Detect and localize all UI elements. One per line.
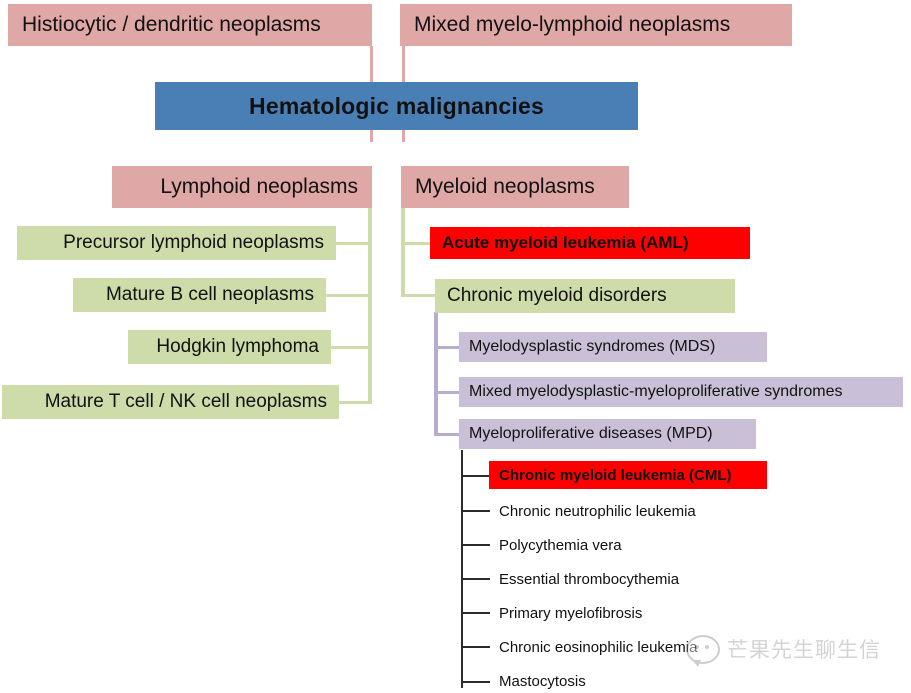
node-polycythemia-vera[interactable]: Polycythemia vera xyxy=(489,531,779,559)
node-mastocytosis[interactable]: Mastocytosis xyxy=(489,667,779,693)
node-label: Chronic myeloid leukemia (CML) xyxy=(499,467,732,484)
node-label: Chronic neutrophilic leukemia xyxy=(499,503,696,520)
node-label: Primary myelofibrosis xyxy=(499,605,642,622)
wechat-bubble-icon xyxy=(686,635,720,664)
connector-lymphoid-stub-1 xyxy=(335,242,371,245)
connector-mpd-stub-4 xyxy=(462,578,490,580)
node-label: Chronic eosinophilic leukemia xyxy=(499,639,697,656)
node-mature-b-cell-neoplasms[interactable]: Mature B cell neoplasms xyxy=(73,278,326,312)
connector-lymphoid-stub-4 xyxy=(338,401,371,404)
node-label: Histiocytic / dendritic neoplasms xyxy=(22,13,321,37)
node-myeloproliferative-diseases[interactable]: Myeloproliferative diseases (MPD) xyxy=(459,419,756,449)
node-histiocytic-dendritic-neoplasms[interactable]: Histiocytic / dendritic neoplasms xyxy=(8,4,372,46)
node-label: Lymphoid neoplasms xyxy=(160,175,358,199)
connector-cmd-stub-2 xyxy=(436,391,460,394)
node-acute-myeloid-leukemia[interactable]: Acute myeloid leukemia (AML) xyxy=(430,227,750,259)
node-chronic-myeloid-leukemia[interactable]: Chronic myeloid leukemia (CML) xyxy=(489,461,767,489)
node-label: Chronic myeloid disorders xyxy=(447,285,667,307)
node-chronic-myeloid-disorders[interactable]: Chronic myeloid disorders xyxy=(435,279,735,313)
watermark-text: 芒果先生聊生信 xyxy=(727,634,881,664)
node-mixed-myelo-lymphoid-neoplasms[interactable]: Mixed myelo-lymphoid neoplasms xyxy=(400,4,792,46)
node-myelodysplastic-syndromes[interactable]: Myelodysplastic syndromes (MDS) xyxy=(459,332,767,362)
connector-mpd-stub-1 xyxy=(462,475,490,477)
node-label: Myeloid neoplasms xyxy=(415,175,595,199)
node-label: Precursor lymphoid neoplasms xyxy=(63,232,324,254)
connector-myeloid-stub-aml xyxy=(403,242,431,245)
connector-cmd-stub-1 xyxy=(436,346,460,349)
node-label: Myelodysplastic syndromes (MDS) xyxy=(469,338,715,356)
node-label: Mastocytosis xyxy=(499,673,586,690)
node-label: Myeloproliferative diseases (MPD) xyxy=(469,425,713,443)
node-label: Mixed myelodysplastic-myeloproliferative… xyxy=(469,383,842,401)
node-label: Mature B cell neoplasms xyxy=(106,284,314,306)
connector-mpd-stub-2 xyxy=(462,510,490,512)
connector-lymphoid-stub-3 xyxy=(330,346,371,349)
node-chronic-neutrophilic-leukemia[interactable]: Chronic neutrophilic leukemia xyxy=(489,497,779,525)
node-label: Essential thrombocythemia xyxy=(499,571,679,588)
node-label: Hodgkin lymphoma xyxy=(156,336,319,358)
node-hodgkin-lymphoma[interactable]: Hodgkin lymphoma xyxy=(128,330,331,364)
connector-lymphoid-trunk xyxy=(368,208,372,404)
connector-cmd-stub-3 xyxy=(436,433,460,436)
connector-mpd-stub-5 xyxy=(462,612,490,614)
node-primary-myelofibrosis[interactable]: Primary myelofibrosis xyxy=(489,599,779,627)
connector-cmd-trunk xyxy=(434,312,438,436)
connector-lymphoid-stub-2 xyxy=(325,294,371,297)
connector-mpd-stub-3 xyxy=(462,544,490,546)
node-mixed-mds-mpn-syndromes[interactable]: Mixed myelodysplastic-myeloproliferative… xyxy=(459,377,903,407)
node-precursor-lymphoid-neoplasms[interactable]: Precursor lymphoid neoplasms xyxy=(17,226,336,260)
connector-myeloid-stub-cmd xyxy=(403,294,436,297)
node-lymphoid-neoplasms[interactable]: Lymphoid neoplasms xyxy=(112,166,372,208)
node-hematologic-malignancies-root[interactable]: Hematologic malignancies xyxy=(155,82,638,130)
node-label: Acute myeloid leukemia (AML) xyxy=(442,233,689,253)
node-label: Mixed myelo-lymphoid neoplasms xyxy=(414,13,730,37)
diagram-canvas: Histiocytic / dendritic neoplasms Mixed … xyxy=(0,0,911,693)
node-myeloid-neoplasms[interactable]: Myeloid neoplasms xyxy=(401,166,629,208)
connector-mpd-stub-6 xyxy=(462,646,490,648)
node-essential-thrombocythemia[interactable]: Essential thrombocythemia xyxy=(489,565,779,593)
connector-mpd-trunk xyxy=(461,450,463,688)
node-label: Hematologic malignancies xyxy=(249,93,544,120)
watermark: 芒果先生聊生信 xyxy=(686,634,881,664)
connector-myeloid-trunk xyxy=(401,208,405,297)
node-label: Polycythemia vera xyxy=(499,537,622,554)
connector-mpd-stub-7 xyxy=(462,681,490,683)
node-mature-t-cell-nk-cell-neoplasms[interactable]: Mature T cell / NK cell neoplasms xyxy=(2,385,339,419)
node-label: Mature T cell / NK cell neoplasms xyxy=(45,391,327,413)
